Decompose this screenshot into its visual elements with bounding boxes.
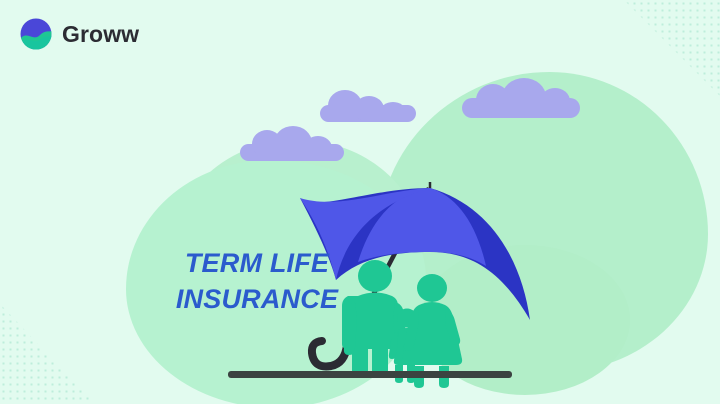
- insurance-banner: Groww TERM LIFE INSURANCE: [0, 0, 720, 404]
- umbrella-handle-icon: [312, 341, 347, 366]
- brand-name: Groww: [62, 23, 139, 46]
- page-title-line-2: INSURANCE: [152, 282, 362, 318]
- page-title-line-1: TERM LIFE: [152, 246, 362, 282]
- page-title: TERM LIFE INSURANCE: [152, 246, 362, 317]
- ground-line: [228, 371, 512, 378]
- groww-logo-icon: [20, 18, 52, 50]
- term-life-illustration: [0, 0, 720, 404]
- brand-logo[interactable]: Groww: [20, 18, 139, 50]
